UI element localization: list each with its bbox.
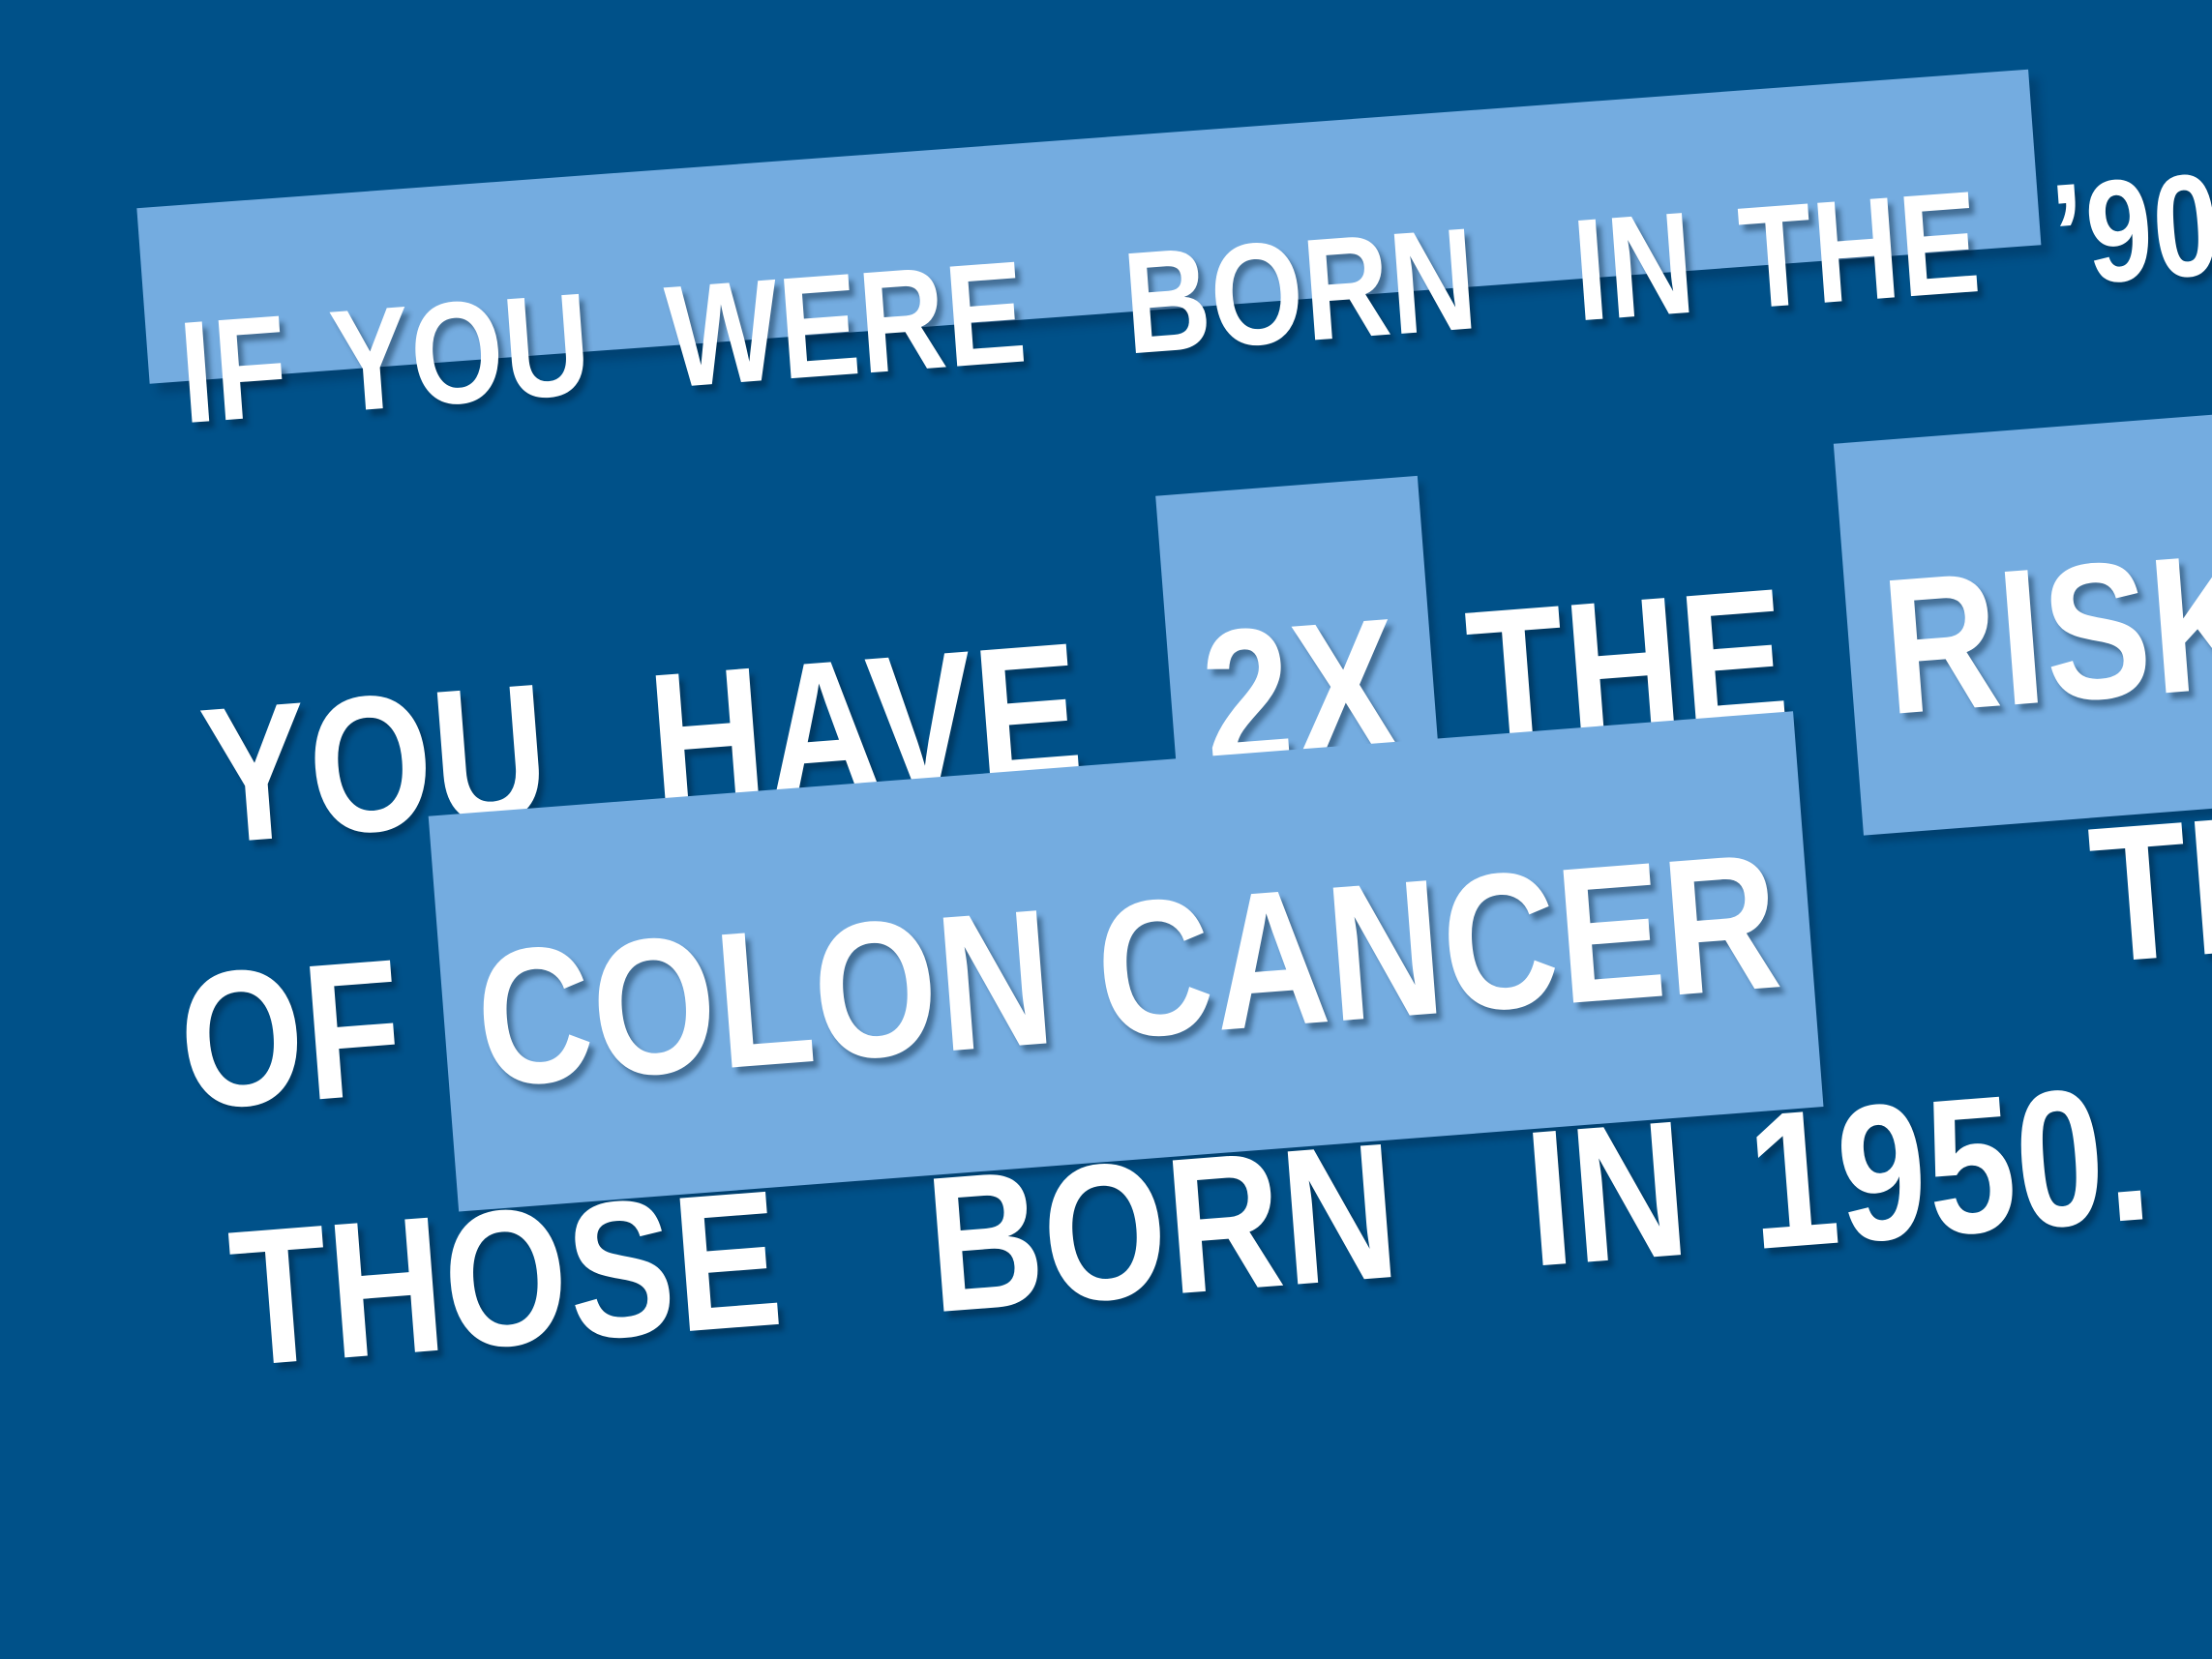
- headline-word: IN: [1508, 1077, 1707, 1313]
- headline-word: IN: [1560, 178, 1709, 355]
- headline-word: IF: [166, 281, 302, 458]
- footer-block: WhyGetScreened.org COLON CANCER COALITIO…: [0, 1407, 2212, 1659]
- headline-block: IF YOU WERE BORN IN THE ’90S... YOU HAVE…: [0, 0, 2212, 1374]
- headline-word: BORN: [1110, 194, 1490, 389]
- headline-word-highlighted-risk: RISK: [1865, 508, 2212, 760]
- headline-word: THOSE: [212, 1146, 800, 1412]
- headline-word: OF: [161, 915, 421, 1156]
- headline-word: ’90S...: [2038, 127, 2212, 320]
- headline-word-text: RISK: [1876, 511, 2212, 755]
- poster-canvas: IF YOU WERE BORN IN THE ’90S... YOU HAVE…: [0, 0, 2212, 1659]
- headline-word: THAN: [2072, 751, 2212, 1008]
- headline-word: 1950.: [1729, 1041, 2168, 1295]
- headline-word: WERE: [652, 227, 1039, 422]
- headline-word: YOU: [316, 259, 605, 446]
- headline-word: BORN: [909, 1099, 1417, 1358]
- headline-word: THE: [1726, 157, 1994, 342]
